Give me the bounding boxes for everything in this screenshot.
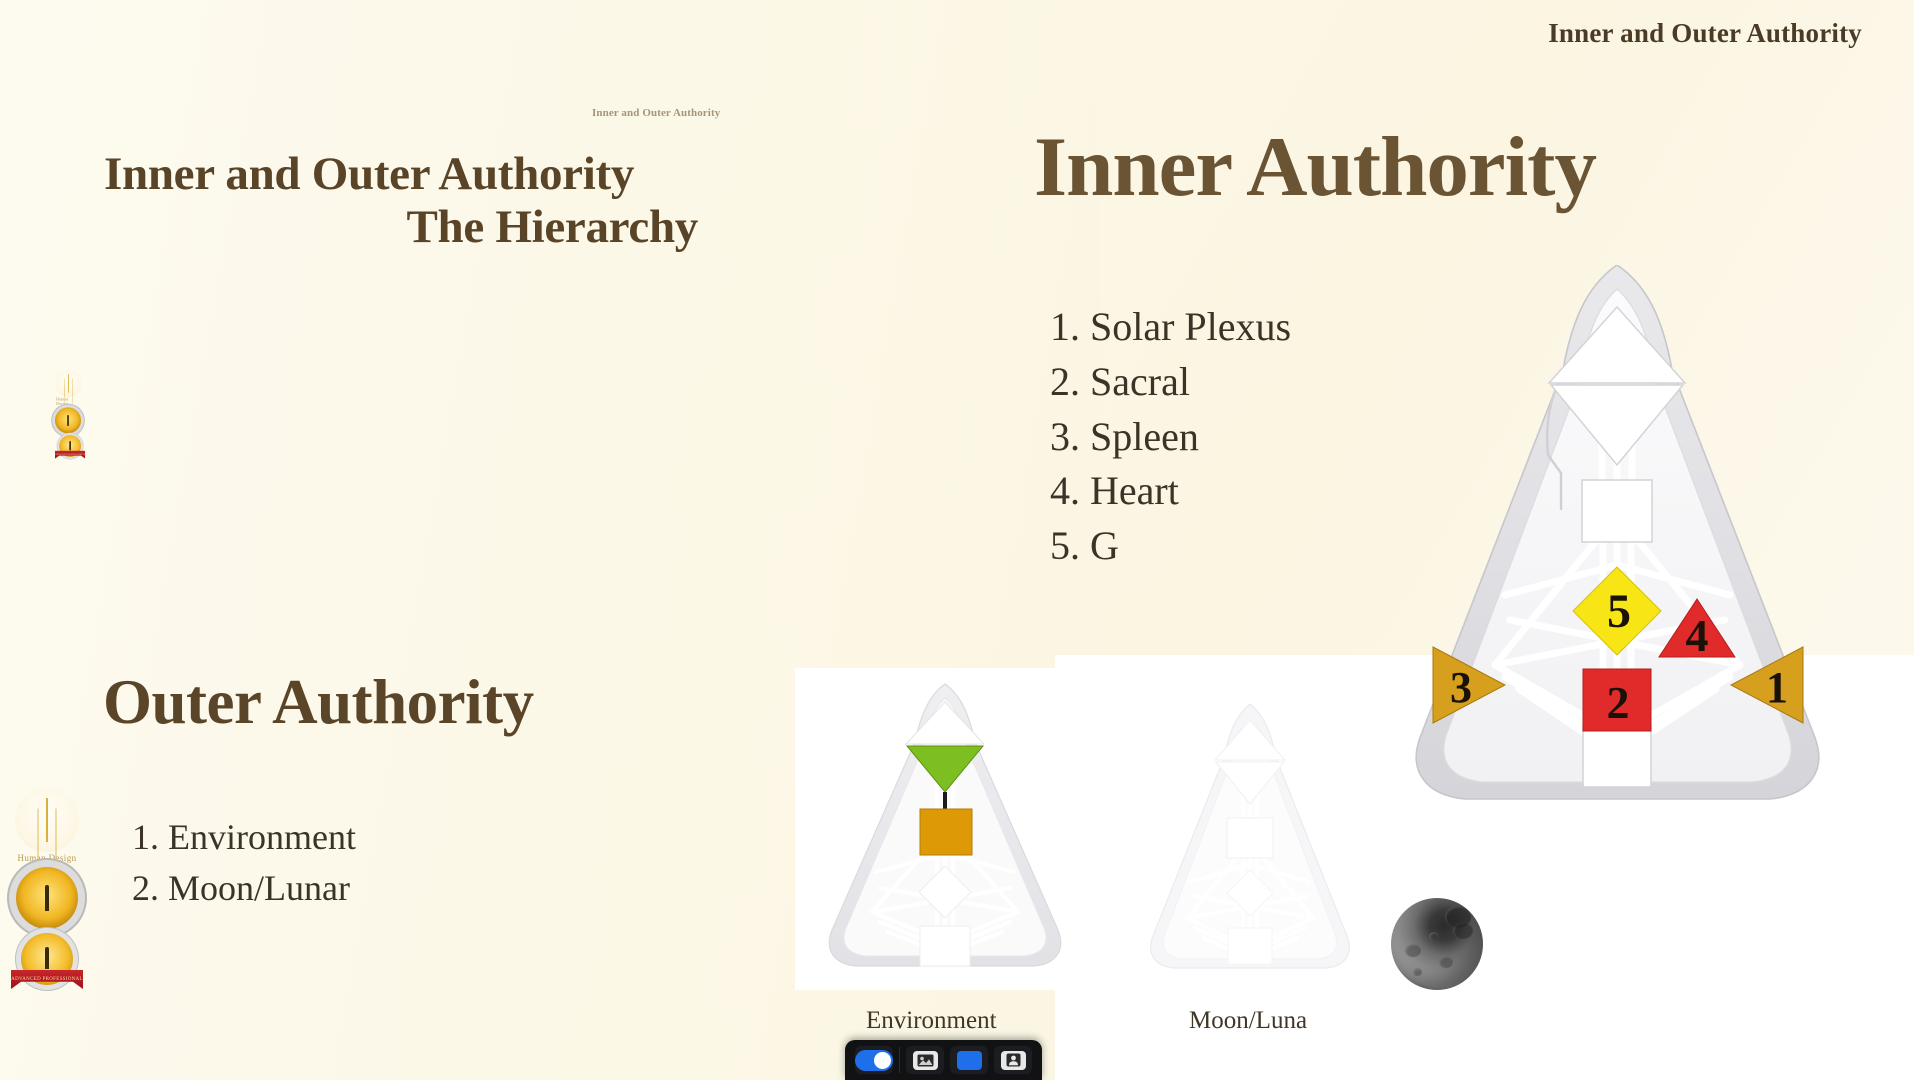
moon-crater — [1413, 968, 1422, 976]
list-number: 2. — [132, 868, 159, 908]
moon-bodygraph — [1135, 700, 1365, 990]
moon-root-center — [1228, 928, 1272, 964]
environment-caption: Environment — [866, 1007, 997, 1035]
outer-authority-heading: Outer Authority — [103, 671, 534, 734]
mic-toggle-icon[interactable] — [855, 1050, 893, 1071]
marker-1-label: 1 — [1766, 663, 1788, 712]
env-root-center — [920, 926, 970, 966]
ribbon-badge-label: ADVANCED PROFESSIONAL — [11, 970, 83, 989]
list-item: 2. Sacral — [1050, 355, 1291, 410]
gold-seal-badge — [4, 867, 90, 929]
inner-authority-bodygraph: 5 4 3 1 2 — [1385, 265, 1850, 850]
ribbon-badge-wrap-small: ADVANCED PROFESSIONAL — [55, 435, 85, 457]
human-design-logo-badge-small: Human Design — [55, 370, 69, 406]
env-head-center — [906, 702, 984, 744]
slide-canvas: Inner and Outer Authority Inner and Oute… — [0, 0, 1914, 1080]
inner-authority-list: 1. Solar Plexus 2. Sacral 3. Spleen 4. H… — [1050, 300, 1291, 574]
hierarchy-title-line1: Inner and Outer Authority — [104, 148, 634, 200]
env-ajna-throat-channel — [943, 792, 947, 810]
marker-2-sacral-center: 2 — [1583, 669, 1651, 731]
list-item: 5. G — [1050, 519, 1291, 574]
screen-share-icon — [913, 1051, 938, 1070]
list-label: G — [1090, 523, 1119, 568]
ribbon-badge-wrap: ADVANCED PROFESSIONAL — [11, 933, 83, 985]
list-item: 1. Environment — [132, 812, 356, 863]
moon-crater — [1429, 932, 1439, 941]
list-label: Heart — [1090, 468, 1179, 513]
env-throat-center-orange — [920, 809, 972, 855]
participants-button[interactable] — [994, 1046, 1032, 1074]
outer-authority-list: 1. Environment 2. Moon/Lunar — [132, 812, 356, 915]
list-number: 1. — [1050, 304, 1080, 349]
marker-2-label: 2 — [1607, 677, 1630, 728]
mic-toggle-button[interactable] — [855, 1046, 893, 1074]
list-label: Environment — [168, 817, 356, 857]
bodygraph-throat-center — [1582, 480, 1652, 542]
environment-bodygraph — [810, 680, 1080, 990]
hierarchy-title-line2: The Hierarchy — [104, 201, 704, 254]
list-number: 5. — [1050, 523, 1080, 568]
moon-photo — [1391, 898, 1483, 990]
inner-authority-heading: Inner Authority — [1034, 125, 1596, 210]
list-item: 4. Heart — [1050, 464, 1291, 519]
list-label: Sacral — [1090, 359, 1190, 404]
gold-seal-icon — [16, 867, 78, 929]
participants-icon — [1001, 1051, 1026, 1070]
moon-caption: Moon/Luna — [1189, 1007, 1307, 1035]
human-design-logo-icon — [15, 788, 79, 852]
video-icon — [957, 1051, 982, 1070]
screen-share-button[interactable] — [906, 1046, 944, 1074]
ribbon-badge: ADVANCED PROFESSIONAL — [4, 933, 90, 985]
human-design-logo-icon-small — [55, 370, 82, 397]
toolbar-divider — [899, 1047, 900, 1073]
gold-seal-icon-small — [55, 407, 81, 433]
marker-4-label: 4 — [1686, 610, 1709, 661]
meeting-toolbar[interactable] — [845, 1040, 1042, 1080]
list-number: 3. — [1050, 414, 1080, 459]
hierarchy-title: Inner and Outer Authority The Hierarchy — [104, 148, 704, 253]
toggle-knob — [874, 1052, 891, 1069]
list-item: 1. Solar Plexus — [1050, 300, 1291, 355]
list-label: Moon/Lunar — [168, 868, 350, 908]
moon-head-center — [1215, 720, 1285, 760]
list-number: 4. — [1050, 468, 1080, 513]
badge-column-small: Human Design ADVANCED PROFESSIONAL — [55, 370, 69, 459]
list-number: 1. — [132, 817, 159, 857]
mini-slide-title: Inner and Outer Authority — [592, 107, 720, 119]
gold-seal-badge-small — [55, 407, 69, 433]
human-design-logo-label: Human Design — [4, 853, 90, 863]
human-design-logo-label-small: Human Design — [55, 397, 69, 405]
moon-crater — [1439, 956, 1453, 968]
badge-column: Human Design ADVANCED PROFESSIONAL — [4, 788, 90, 989]
list-number: 2. — [1050, 359, 1080, 404]
list-item: 2. Moon/Lunar — [132, 863, 356, 914]
bodygraph-root-center — [1583, 727, 1651, 787]
human-design-logo-badge: Human Design — [4, 788, 90, 863]
video-button[interactable] — [950, 1046, 988, 1074]
ribbon-badge-small: ADVANCED PROFESSIONAL — [55, 435, 69, 457]
moon-crater — [1445, 906, 1471, 928]
marker-5-label: 5 — [1607, 585, 1631, 638]
list-label: Solar Plexus — [1090, 304, 1291, 349]
corner-title: Inner and Outer Authority — [1548, 18, 1862, 49]
marker-3-label: 3 — [1450, 663, 1472, 712]
moon-throat-center — [1227, 818, 1273, 858]
list-item: 3. Spleen — [1050, 410, 1291, 465]
moon-crater — [1405, 944, 1421, 957]
list-label: Spleen — [1090, 414, 1199, 459]
